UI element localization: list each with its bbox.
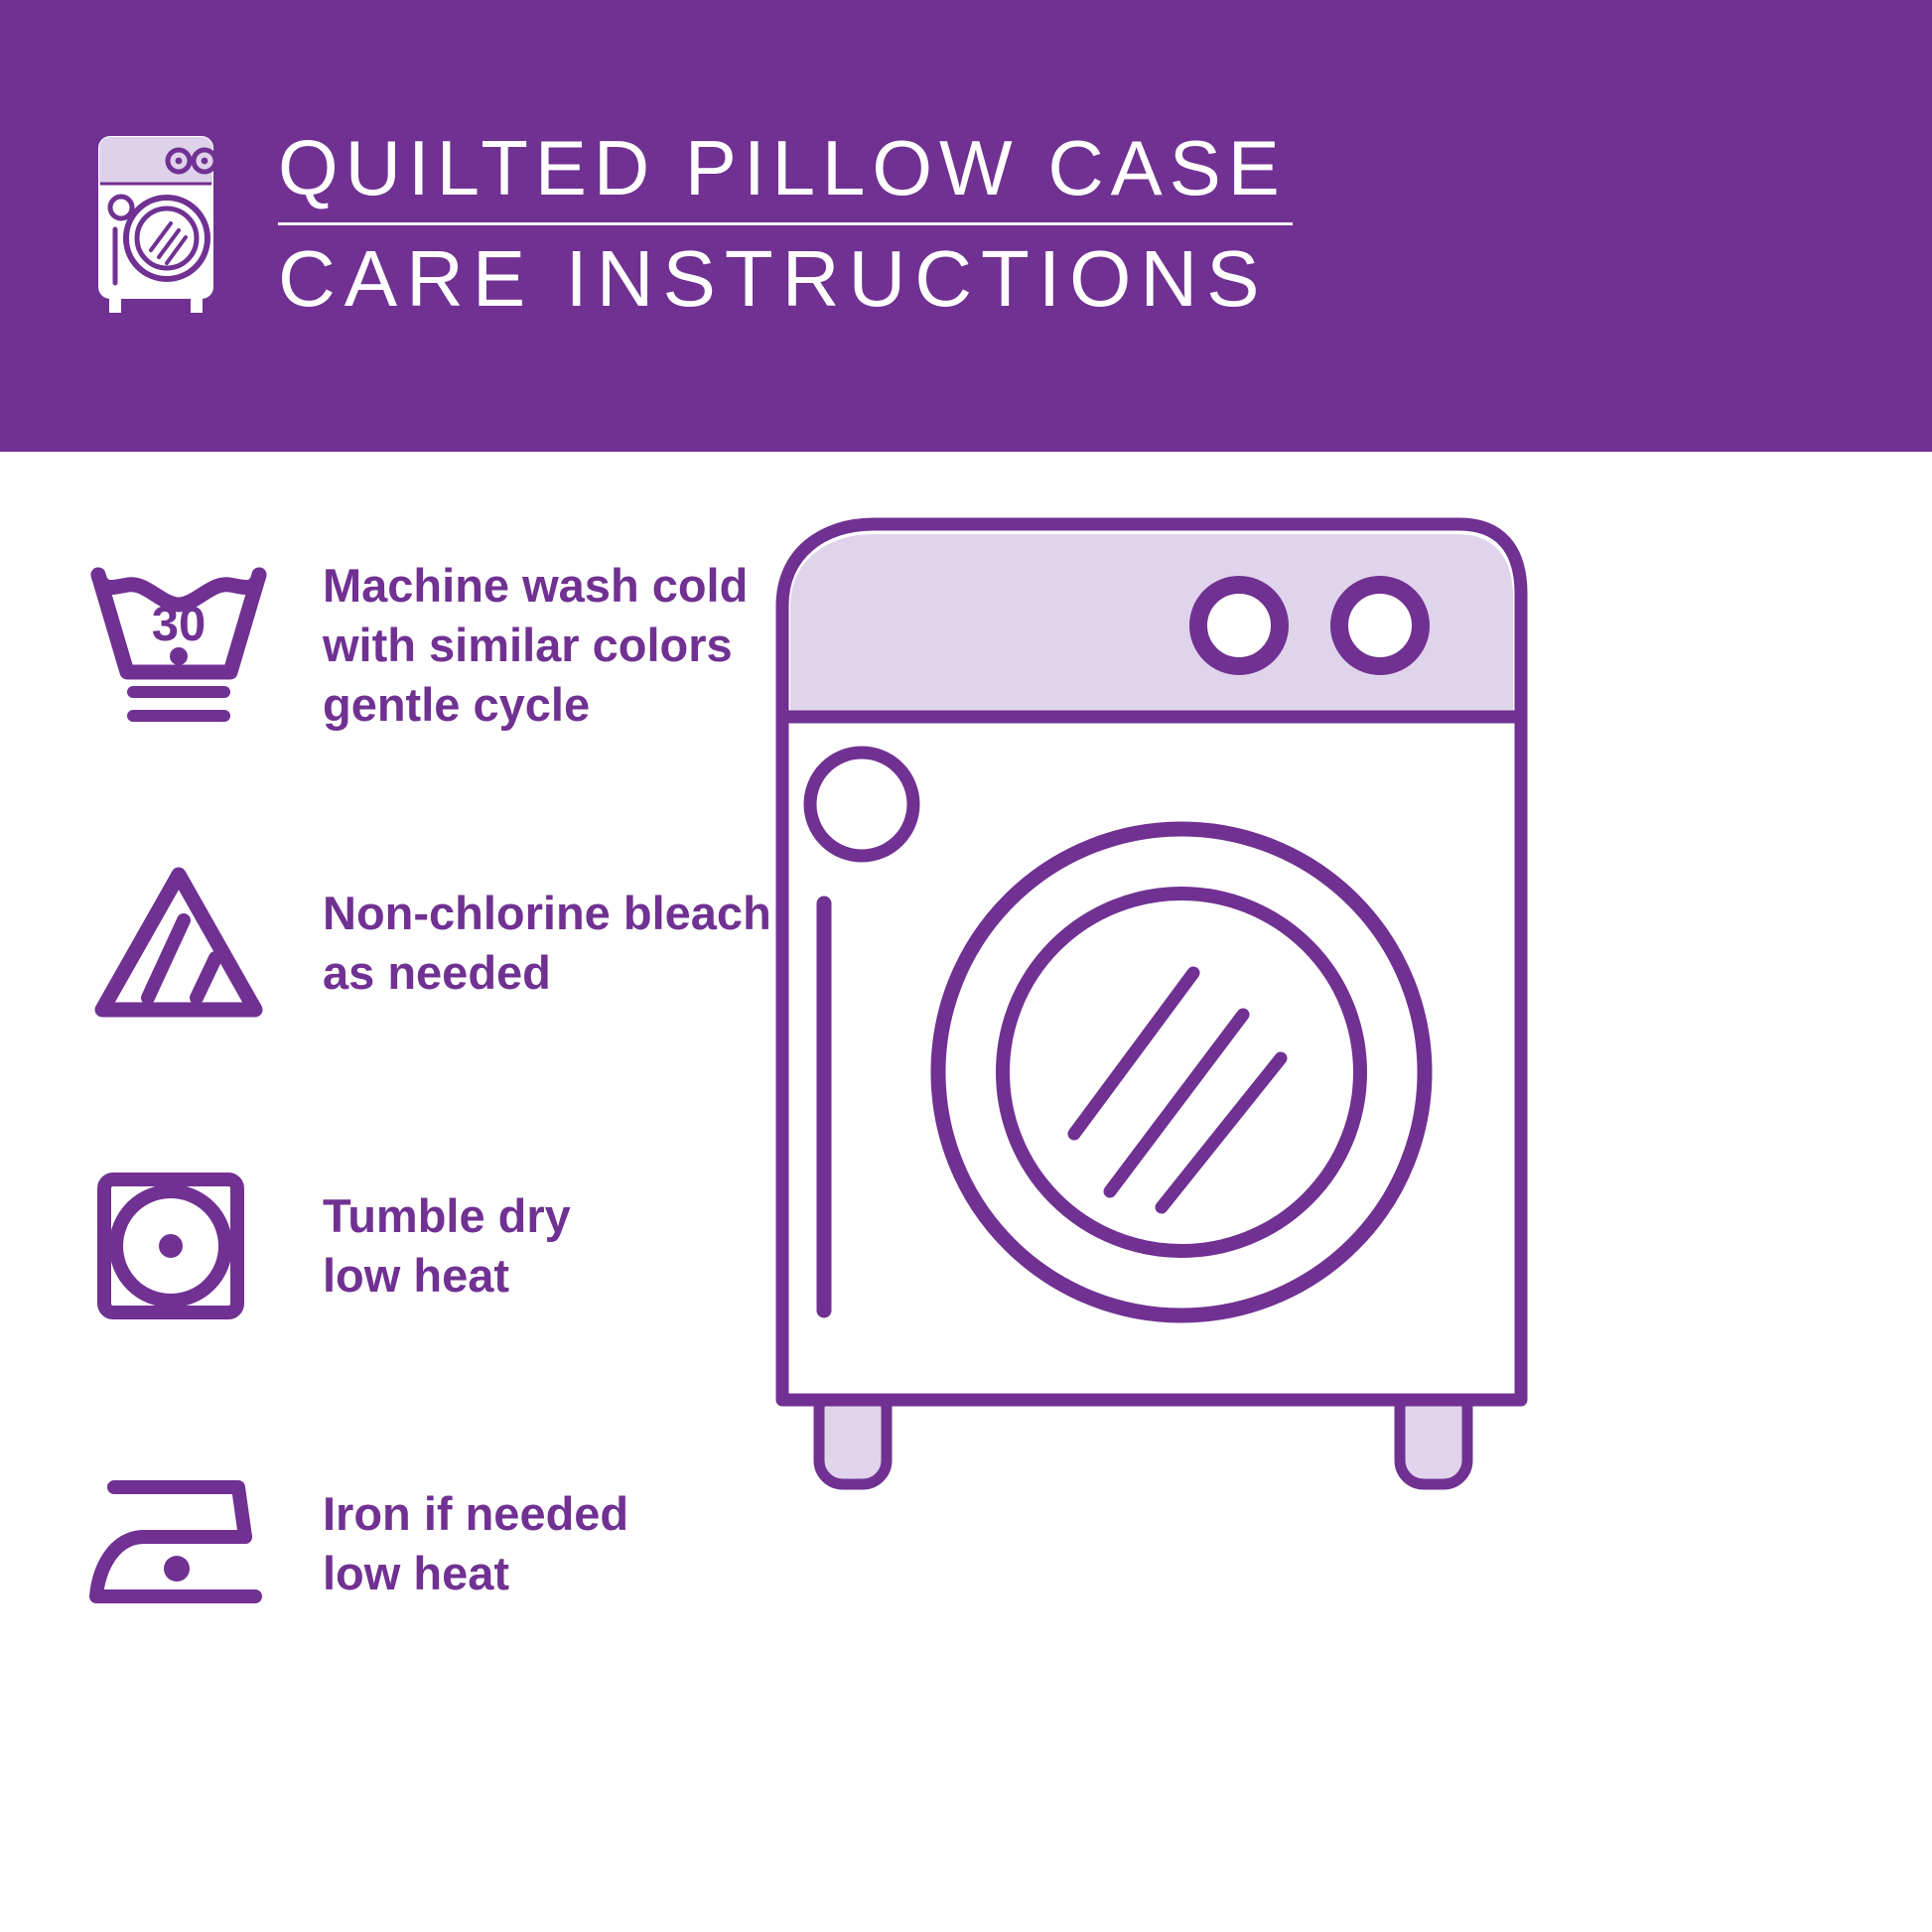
care-row-iron: Iron if needed low heat (84, 1445, 879, 1643)
care-text-line: Iron if needed (323, 1484, 628, 1544)
care-text-wash: Machine wash cold with similar colors ge… (298, 556, 748, 735)
washing-machine-icon (79, 134, 233, 318)
knob-left (1198, 585, 1280, 666)
small-dial (810, 753, 913, 856)
care-text-line: low heat (323, 1246, 571, 1306)
care-text-iron: Iron if needed low heat (298, 1484, 628, 1603)
header-text-block: QUILTED PILLOW CASE CARE INSTRUCTIONS (278, 129, 1330, 319)
knob-right (1339, 585, 1421, 666)
care-text-line: gentle cycle (323, 675, 748, 735)
large-washing-machine-illustration (764, 506, 1549, 1499)
care-text-line: Machine wash cold (323, 556, 748, 616)
care-instructions-infographic: QUILTED PILLOW CASE CARE INSTRUCTIONS 30 (0, 0, 1932, 1932)
iron-low-heat-icon (84, 1445, 298, 1643)
care-row-wash: 30 Machine wash cold with similar colors… (84, 546, 879, 745)
care-text-bleach: Non-chlorine bleach as needed (298, 884, 771, 1003)
care-text-line: low heat (323, 1544, 628, 1603)
title-divider (278, 222, 1293, 225)
wash-temperature-label: 30 (152, 598, 207, 651)
drum-door (938, 829, 1425, 1315)
header-banner: QUILTED PILLOW CASE CARE INSTRUCTIONS (0, 0, 1932, 452)
page-subtitle: CARE INSTRUCTIONS (278, 239, 1330, 319)
care-text-line: with similar colors (323, 616, 748, 675)
wash-tub-30-icon: 30 (84, 546, 298, 745)
non-chlorine-bleach-triangle-icon (84, 844, 298, 1042)
page-title: QUILTED PILLOW CASE (278, 129, 1330, 207)
care-text-line: Non-chlorine bleach (323, 884, 771, 943)
care-text-tumble-dry: Tumble dry low heat (298, 1186, 571, 1306)
tumble-dry-low-icon (84, 1147, 298, 1345)
care-text-line: Tumble dry (323, 1186, 571, 1246)
care-row-bleach: Non-chlorine bleach as needed (84, 844, 879, 1042)
care-row-tumble-dry: Tumble dry low heat (84, 1147, 879, 1345)
care-text-line: as needed (323, 943, 771, 1003)
